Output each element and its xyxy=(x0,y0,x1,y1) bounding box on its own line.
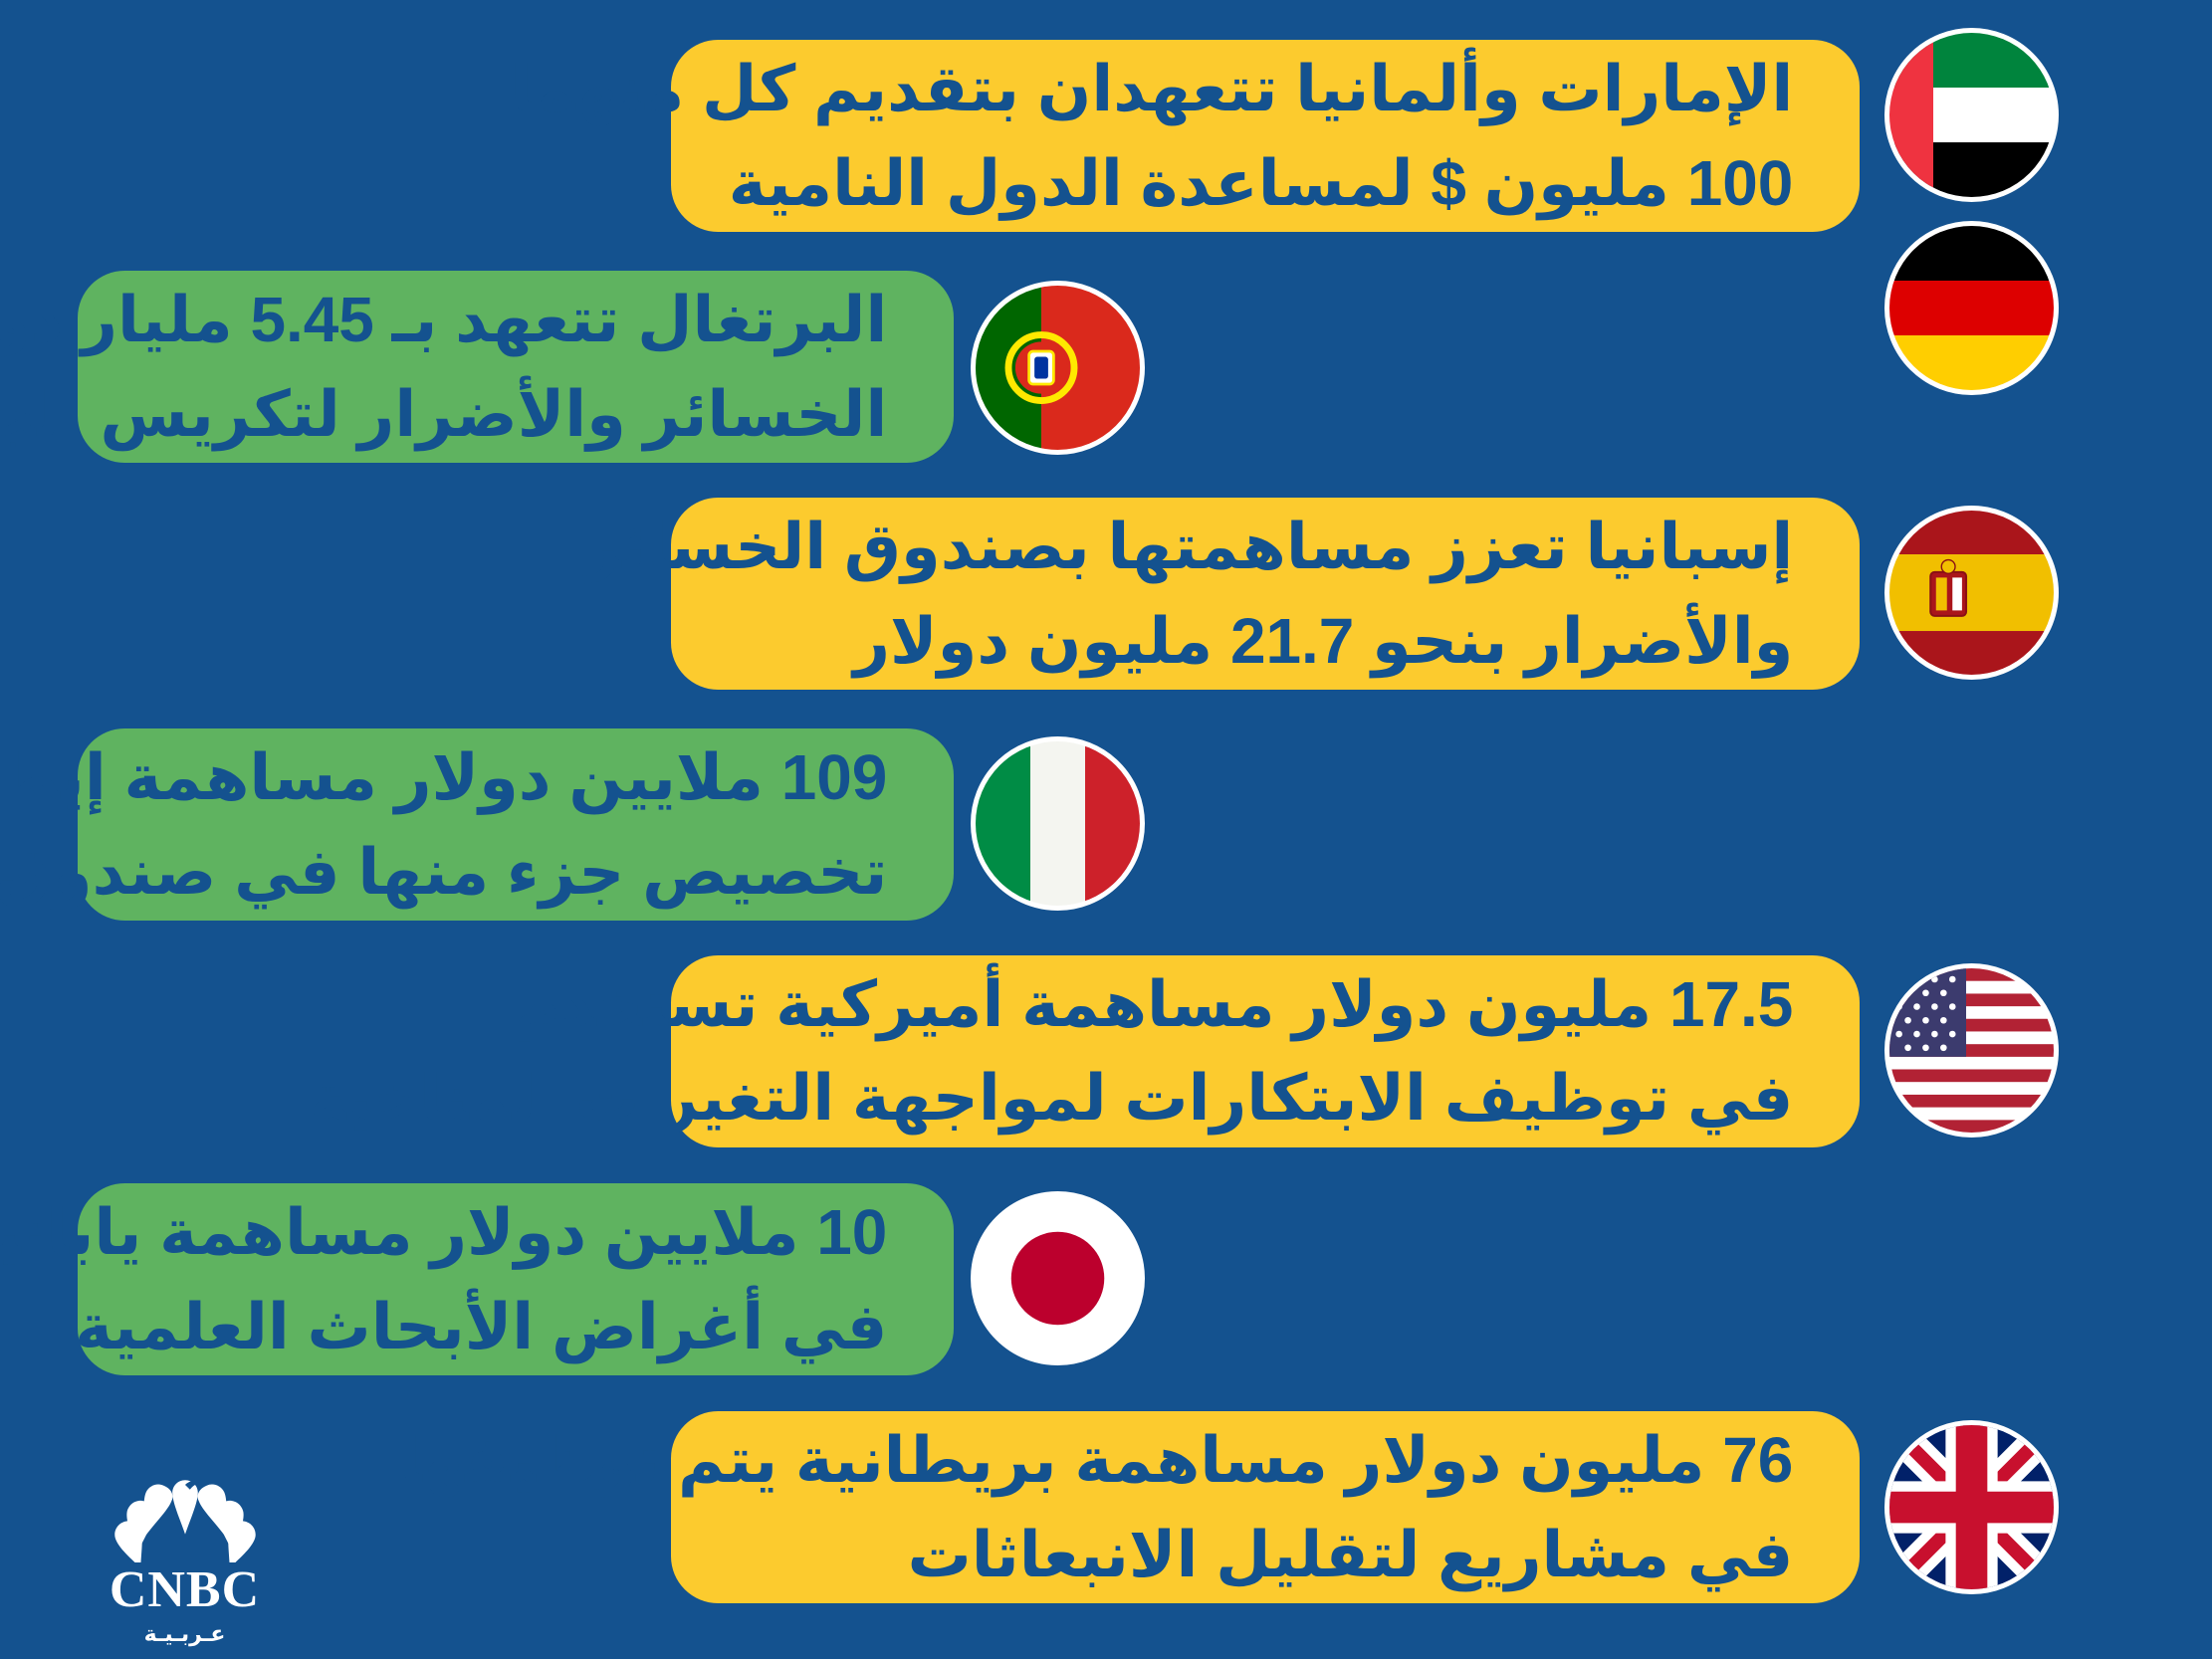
card-italy: 109 ملايين دولار مساهمة إيطالية يتم تخصي… xyxy=(78,728,954,921)
card-line: في مشاريع لتقليل الانبعاثات xyxy=(738,1508,1794,1602)
card-uk: 76 مليون دولار مساهمة بريطانية يتم توظيف… xyxy=(671,1411,1860,1603)
card-japan: 10 ملايين دولار مساهمة يابانية يتم توظيف… xyxy=(78,1183,954,1375)
flag-group-uae-germany xyxy=(1884,28,2059,396)
card-line: الإمارات وألمانيا تتعهدان بتقديم كل منهم… xyxy=(738,42,1794,136)
flag-group-italy xyxy=(971,736,1145,911)
uae-flag xyxy=(1884,28,2059,202)
flag-group-usa xyxy=(1884,963,2059,1138)
infographic-root: الإمارات وألمانيا تتعهدان بتقديم كل منهم… xyxy=(0,0,2212,1659)
flag-group-japan xyxy=(971,1191,1145,1365)
card-line: في أغراض الأبحاث العلمية xyxy=(144,1280,888,1374)
flag-group-portugal xyxy=(971,281,1145,455)
card-line: 100 مليون $ لمساعدة الدول النامية xyxy=(738,136,1794,231)
spain-flag xyxy=(1884,506,2059,680)
card-line: والأضرار بنحو 21.7 مليون دولار xyxy=(738,594,1794,689)
cnbc-wordmark: CNBC xyxy=(78,1564,292,1616)
card-line: في توظيف الابتكارات لمواجهة التغيرات الم… xyxy=(738,1051,1794,1145)
card-line: 10 ملايين دولار مساهمة يابانية يتم توظيف… xyxy=(144,1185,888,1280)
card-line: تخصيص جزء منها في صندوق المناخ بأفريقيا xyxy=(144,825,888,920)
card-line: البرتغال تتعهد بـ 5.45 مليار دولار لصندو… xyxy=(144,273,888,367)
card-portugal: البرتغال تتعهد بـ 5.45 مليار دولار لصندو… xyxy=(78,271,954,463)
japan-flag xyxy=(971,1191,1145,1365)
card-uae-germany: الإمارات وألمانيا تتعهدان بتقديم كل منهم… xyxy=(671,40,1860,232)
cnbc-arabic-wordmark: عـربـيـة xyxy=(78,1621,292,1647)
flag-group-uk xyxy=(1884,1420,2059,1594)
italy-flag xyxy=(971,736,1145,911)
card-line: 109 ملايين دولار مساهمة إيطالية يتم xyxy=(144,730,888,825)
card-spain: إسبانيا تعزز مساهمتها بصندوق الخسائر وال… xyxy=(671,498,1860,690)
cnbc-arabia-logo: CNBC عـربـيـة xyxy=(78,1471,292,1620)
card-line: إسبانيا تعزز مساهمتها بصندوق الخسائر xyxy=(738,500,1794,594)
germany-flag xyxy=(1884,221,2059,395)
card-line: 76 مليون دولار مساهمة بريطانية يتم توظيف… xyxy=(738,1413,1794,1508)
card-usa: 17.5 مليون دولار مساهمة أميركية تستخدم ف… xyxy=(671,955,1860,1147)
portugal-flag xyxy=(971,281,1145,455)
peacock-icon xyxy=(106,1471,265,1562)
card-line: الخسائر والأضرار لتكريس الجهود المناخية xyxy=(144,367,888,462)
usa-flag xyxy=(1884,963,2059,1138)
flag-group-spain xyxy=(1884,506,2059,680)
card-line: 17.5 مليون دولار مساهمة أميركية تستخدم xyxy=(738,957,1794,1052)
uk-flag xyxy=(1884,1420,2059,1594)
